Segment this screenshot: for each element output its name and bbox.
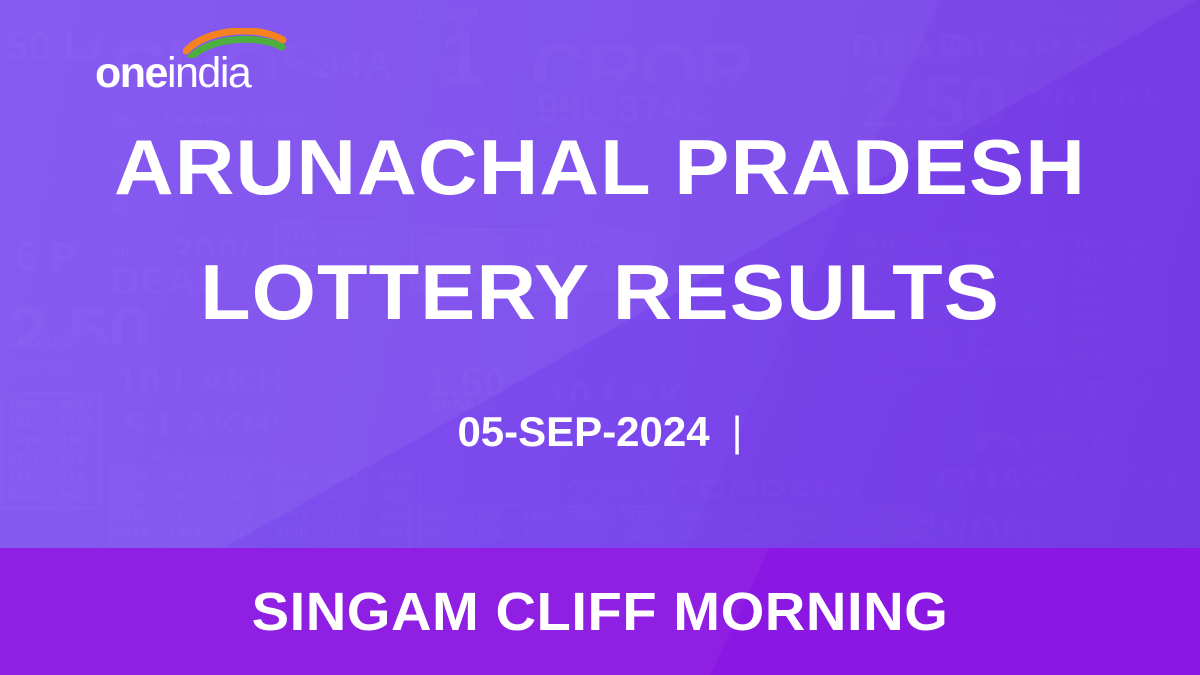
collage-number: 728 [61, 470, 94, 485]
collage-number: 0000 [416, 511, 449, 526]
collage-number: 0875 [169, 489, 202, 504]
promo-banner-image: 50 LAKHSবাংলা6 PDEAR2.50CRORESMAITY - WB… [0, 0, 1200, 675]
collage-number: 7975 [839, 529, 872, 544]
collage-number: 0003 [416, 529, 449, 544]
logo-india-text: india [167, 49, 250, 97]
collage-number: 8644 [892, 511, 925, 526]
collage-number: 3180 [275, 525, 308, 540]
collage-number: 4301 [328, 525, 361, 540]
collage-number: 2960 [575, 529, 608, 544]
collage-ticket-text: 2281 CROREPATIS [560, 468, 860, 498]
collage-number: 0761 [863, 346, 896, 361]
lottery-name-banner: Singam Cliff Morning [0, 548, 1200, 675]
oneindia-logo[interactable]: oneindia [95, 30, 295, 100]
collage-number: 6552 [786, 529, 819, 544]
collage-number: 4950 [681, 529, 714, 544]
collage-ticket-text: 50 LAKHS [0, 20, 100, 66]
collage-number: 1991 [522, 511, 555, 526]
collage-number: 3083 [275, 507, 308, 522]
date-separator: | [732, 408, 743, 456]
collage-number: 4034 [328, 489, 361, 504]
collage-number: 2797 [969, 346, 1002, 361]
collage-number: 1857 [222, 471, 255, 486]
collage-number: 6558 [786, 511, 819, 526]
collage-number: 6013 [1128, 238, 1161, 253]
collage-number: 3071 [328, 471, 361, 486]
collage-ticket-text: 17/03/24 [855, 370, 995, 396]
collage-ticket-text: 2.50 [855, 56, 1015, 126]
collage-number: 4410 [628, 529, 661, 544]
collage-number: 7887 [839, 511, 872, 526]
collage-number: 9007 [892, 529, 925, 544]
collage-number: 5726 [524, 234, 557, 249]
result-date-row: 05-SEP-2024| [0, 408, 1200, 456]
collage-number: 2896 [275, 489, 308, 504]
collage-number: 1912 [222, 507, 255, 522]
collage-number: 2004 [522, 529, 555, 544]
collage-ticket-text: 34A [312, 38, 402, 80]
collage-number: 8971 [1022, 238, 1055, 253]
collage-number: 4178 [471, 234, 504, 249]
collage-number: 1901 [222, 489, 255, 504]
lottery-name-label: Singam Cliff Morning [252, 581, 949, 643]
collage-number: 0178 [283, 228, 316, 243]
collage-number: 4900 [681, 511, 714, 526]
collage-ticket-text: 7299 7460 7635 [1010, 6, 1200, 28]
collage-ticket-text: 10 LAKHS [540, 370, 680, 400]
collage-ticket-text: 20 LAKHS [1025, 74, 1165, 104]
collage-ticket-text: GUARANTEED 15 [930, 455, 1200, 487]
collage-number: 1074 [469, 529, 502, 544]
collage-number: 4155 [328, 507, 361, 522]
collage-number: 926 [630, 234, 655, 249]
collage-number: 6151 [1075, 346, 1108, 361]
page-title-line-2: Lottery Results [0, 253, 1200, 331]
collage-number: 960 [61, 488, 94, 503]
collage-number: 5208 [381, 489, 414, 504]
collage-number: 3959 [418, 234, 451, 249]
collage-number: 8883 [8, 488, 41, 503]
collage-number: 1548 [916, 346, 949, 361]
collage-number: 1971 [222, 525, 255, 540]
collage-number: 0835 [169, 471, 202, 486]
collage-number: 0199 [116, 489, 149, 504]
collage-ticket-text: CRORE [525, 22, 755, 82]
collage-number: 0429 [336, 228, 369, 243]
collage-number: 0459 [116, 525, 149, 540]
logo-one-text: one [95, 49, 167, 97]
collage-number: 4407 [628, 511, 661, 526]
collage-ticket-text: 1st PRIZE ₹ [410, 55, 470, 95]
collage-number: 2789 [275, 471, 308, 486]
collage-number: 7761 [577, 234, 610, 249]
collage-number: 1302 [169, 525, 202, 540]
collage-number: 1390 [8, 470, 41, 485]
collage-number: 0056 [116, 471, 149, 486]
collage-number: 1006 [469, 511, 502, 526]
collage-number: 7015 [1128, 346, 1161, 361]
collage-number: 1184 [169, 507, 202, 522]
collage-number: 0370 [116, 507, 149, 522]
collage-ticket-text: CRORES [0, 330, 150, 356]
collage-number: 2892 [575, 511, 608, 526]
collage-ticket-text: 10 LAKHS [110, 355, 280, 391]
page-title-line-1: Arunachal Pradesh [0, 128, 1200, 206]
collage-number: 5871 [734, 511, 767, 526]
collage-number: 1303 [1075, 238, 1108, 253]
collage-number: 5203 [381, 471, 414, 486]
collage-ticket-text: 99L 3742 [530, 82, 780, 128]
collage-number: 5891 [734, 529, 767, 544]
logo-wordmark: oneindia [95, 52, 250, 95]
collage-number: 6651 [1022, 346, 1055, 361]
collage-ticket-text: 1 P M [1045, 368, 1165, 402]
result-date: 05-SEP-2024 [457, 408, 709, 455]
